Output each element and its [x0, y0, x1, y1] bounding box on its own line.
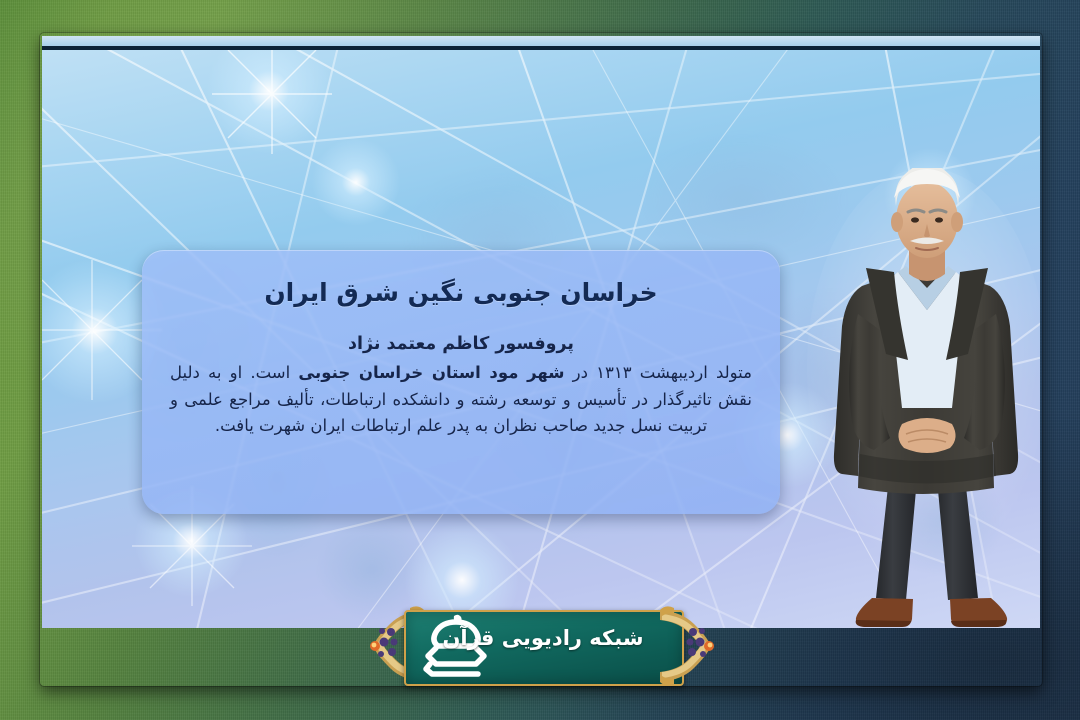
- logo-network-name: شبکه رادیویی قرآن: [428, 626, 658, 650]
- card-body-plain: متولد اردیبهشت ۱۳۱۳ در: [565, 363, 752, 382]
- network-logo: شبکه رادیویی قرآن: [368, 604, 716, 688]
- ornament-right-icon: [656, 606, 716, 686]
- info-card: خراسان جنوبی نگین شرق ایران پروفسور کاظم…: [142, 250, 780, 514]
- card-body-emphasis: شهر مود استان خراسان جنوبی: [298, 363, 564, 382]
- card-body: متولد اردیبهشت ۱۳۱۳ در شهر مود استان خرا…: [170, 360, 752, 440]
- content-panel: خراسان جنوبی نگین شرق ایران پروفسور کاظم…: [42, 50, 1040, 628]
- slide-canvas: خراسان جنوبی نگین شرق ایران پروفسور کاظم…: [0, 0, 1080, 720]
- speaker-photo: [802, 168, 1040, 628]
- panel-top-strip: [42, 36, 1040, 46]
- card-title: خراسان جنوبی نگین شرق ایران: [166, 278, 756, 308]
- card-subtitle: پروفسور کاظم معتمد نژاد: [168, 334, 754, 356]
